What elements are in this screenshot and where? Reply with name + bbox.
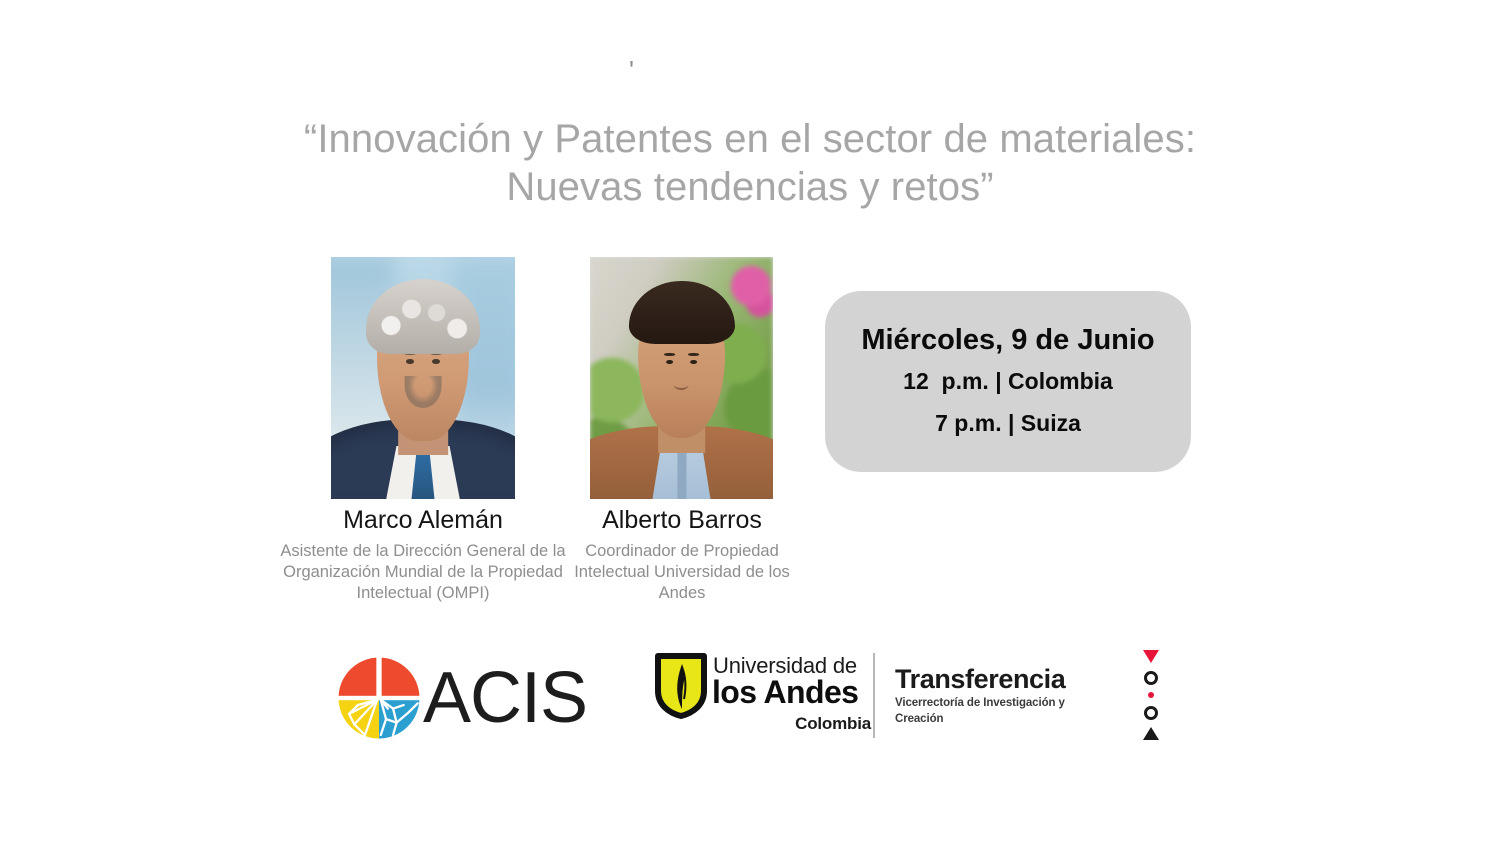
speaker-photo-alberto-barros (590, 257, 773, 499)
acis-wordmark: ACIS (423, 656, 587, 740)
triangle-up-icon (1143, 727, 1159, 740)
uniandes-line-2: los Andes (712, 674, 858, 711)
ring-icon-bottom (1144, 706, 1158, 720)
photo-shirt-placket (677, 446, 686, 499)
photo-content-marco (331, 257, 515, 499)
stray-apostrophe-mark: ' (629, 62, 635, 78)
transferencia-logo: Transferencia Vicerrectoría de Investiga… (895, 663, 1095, 727)
speaker-name-alberto-barros: Alberto Barros (572, 505, 792, 535)
uniandes-line-3: Colombia (713, 714, 871, 734)
photo-beard (405, 376, 442, 408)
photo-eye-left (666, 360, 673, 364)
transferencia-subtitle: Vicerrectoría de Investigación y Creació… (895, 695, 1095, 727)
acis-circle-mark-icon (335, 654, 423, 742)
event-time-suiza: 7 p.m. | Suiza (935, 402, 1081, 444)
uniandes-shield-icon (655, 653, 707, 719)
photo-smile (674, 383, 689, 389)
speaker-role-marco-aleman: Asistente de la Dirección General de la … (273, 541, 573, 604)
event-announcement-slide: ' “Innovación y Patentes en el sector de… (0, 0, 1500, 844)
transferencia-symbol-stack (1138, 650, 1164, 740)
photo-content-alberto (590, 257, 773, 499)
uniandes-logo: Universidad de los Andes Colombia (655, 648, 870, 743)
transferencia-title: Transferencia (895, 663, 1095, 695)
title-line-2: Nuevas tendencias y retos” (270, 163, 1230, 211)
event-time-colombia: 12 p.m. | Colombia (903, 360, 1113, 402)
photo-eye-left (406, 359, 414, 364)
event-date-time-box: Miércoles, 9 de Junio 12 p.m. | Colombia… (825, 291, 1191, 472)
page-title: “Innovación y Patentes en el sector de m… (270, 115, 1230, 211)
photo-eyebrow-right (688, 353, 699, 356)
dot-icon (1148, 692, 1154, 698)
speaker-photo-marco-aleman (331, 257, 515, 499)
speaker-name-marco-aleman: Marco Alemán (273, 505, 573, 535)
acis-logo: ACIS (335, 650, 625, 742)
photo-eye-right (432, 359, 440, 364)
ring-icon-top (1144, 671, 1158, 685)
speaker-role-alberto-barros: Coordinador de Propiedad Intelectual Uni… (572, 541, 792, 604)
logo-divider (873, 653, 875, 738)
title-line-1: “Innovación y Patentes en el sector de m… (270, 115, 1230, 163)
triangle-down-icon (1143, 650, 1159, 663)
photo-eyebrow-left (664, 353, 675, 356)
event-date: Miércoles, 9 de Junio (861, 320, 1154, 360)
sponsor-logo-strip: ACIS Universidad de los Andes Colombia T… (330, 645, 1180, 745)
photo-eye-right (690, 360, 697, 364)
